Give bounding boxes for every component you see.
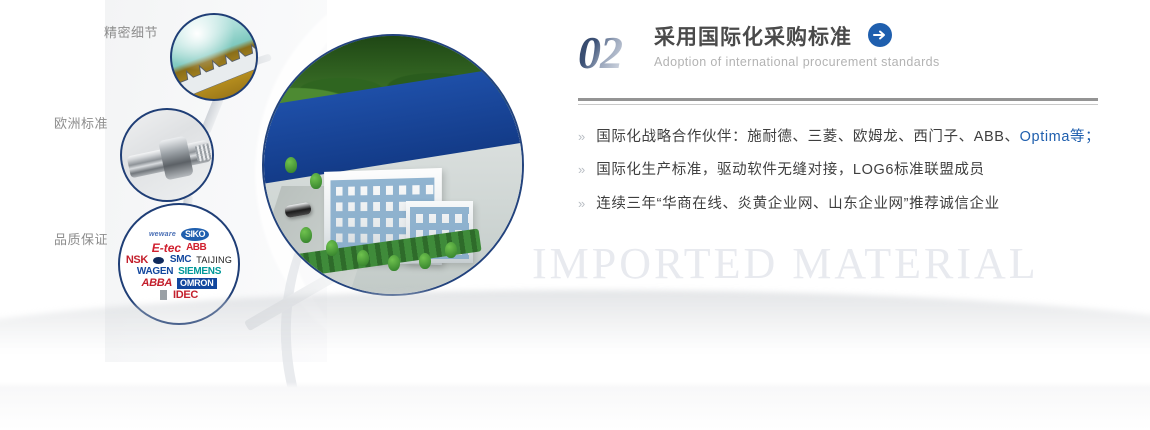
idec-mark-icon: [160, 290, 167, 300]
ball-screw-photo: [120, 108, 214, 202]
logo-abba: ABBA: [141, 278, 172, 289]
gear-detail-photo: [170, 13, 258, 101]
section-subtitle: Adoption of international procurement st…: [654, 55, 940, 69]
content-column: 02 采用国际化采购标准 Adoption of international p…: [578, 24, 1098, 229]
list-item: » 国际化生产标准，驱动软件无缝对接，LOG6标准联盟成员: [578, 162, 1098, 179]
logo-taijing: TAIJING: [196, 256, 232, 265]
side-label-quality-assurance: 品质保证: [54, 229, 108, 248]
factory-aerial-photo: [262, 34, 524, 296]
divider-thick: [578, 98, 1098, 101]
bullet-list: » 国际化战略合作伙伴：施耐德、三菱、欧姆龙、西门子、ABB、Optima等； …: [578, 129, 1098, 213]
bullet-lead-0: 国际化战略合作伙伴：施耐德、三菱、欧姆龙、西门子、ABB、: [596, 129, 1019, 145]
watermark-imported-material: IMPORTED MATERIAL: [532, 238, 1039, 289]
section-number: 02: [578, 26, 622, 79]
logo-siemens: SIEMENS: [178, 267, 221, 277]
screw-nut-shape: [158, 136, 194, 181]
side-label-european-standard: 欧洲标准: [54, 113, 108, 132]
section-header: 02 采用国际化采购标准 Adoption of international p…: [578, 24, 1098, 90]
chevron-double-right-icon: »: [578, 163, 585, 176]
bullet-highlight-optima: Optima等；: [1020, 129, 1101, 145]
chevron-double-right-icon: »: [578, 197, 585, 210]
logo-nsk: NSK: [126, 255, 148, 266]
bottom-fade-band: [0, 382, 1150, 430]
list-item: » 连续三年“华商在线、炎黄企业网、山东企业网”推荐诚信企业: [578, 196, 1098, 213]
factory-tree: [310, 173, 322, 189]
factory-tree: [388, 255, 400, 271]
logo-wagen: WAGEN: [137, 267, 173, 277]
logo-weware: weware: [149, 231, 176, 238]
smc-mark-icon: [153, 257, 164, 264]
bullet-text-credit-enterprise: 连续三年“华商在线、炎黄企业网、山东企业网”推荐诚信企业: [596, 196, 999, 213]
page-title: 采用国际化采购标准: [654, 24, 852, 51]
promo-banner: 精密细节 欧洲标准 品质保证 weware SIKO E-tec ABB NSK: [0, 0, 1150, 430]
bullet-text-production-standard: 国际化生产标准，驱动软件无缝对接，LOG6标准联盟成员: [596, 162, 984, 179]
factory-tree: [285, 157, 297, 173]
screw-thread-shape: [195, 142, 214, 162]
arrow-right-circle-icon[interactable]: [868, 23, 892, 47]
logo-siko: SIKO: [181, 228, 209, 241]
factory-tree: [300, 227, 312, 243]
factory-tree: [419, 253, 431, 269]
factory-tree: [326, 240, 338, 256]
side-label-precision: 精密细节: [104, 22, 158, 41]
chevron-double-right-icon: »: [578, 130, 585, 143]
list-item: » 国际化战略合作伙伴：施耐德、三菱、欧姆龙、西门子、ABB、Optima等；: [578, 129, 1098, 146]
bullet-text-partners: 国际化战略合作伙伴：施耐德、三菱、欧姆龙、西门子、ABB、Optima等；: [596, 129, 1100, 146]
factory-tree: [357, 250, 369, 266]
factory-tree: [445, 242, 457, 258]
logo-idec: IDEC: [173, 290, 198, 301]
logo-abb: ABB: [186, 243, 206, 253]
logo-etec: E-tec: [152, 242, 181, 254]
divider-thin: [578, 104, 1098, 105]
logo-omron: OMRON: [177, 278, 217, 289]
logo-smc: SMC: [170, 255, 191, 265]
